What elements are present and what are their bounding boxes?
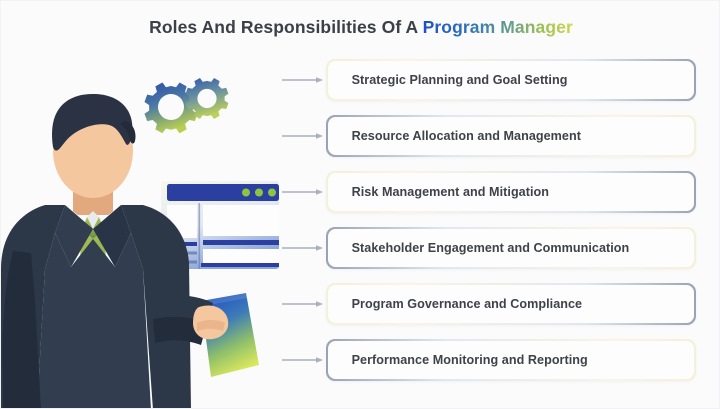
list-item-inner: Resource Allocation and Management — [328, 117, 695, 156]
list-item[interactable]: Risk Management and Mitigation — [326, 171, 696, 213]
gears-icon — [144, 78, 228, 133]
list-item-inner: Program Governance and Compliance — [328, 285, 695, 324]
list-item-label: Strategic Planning and Goal Setting — [352, 73, 568, 87]
connector-arrow-icon — [282, 283, 324, 325]
connector-arrow-icon — [282, 171, 324, 213]
hero-illustration — [1, 1, 301, 409]
list-item-inner: Stakeholder Engagement and Communication — [328, 229, 695, 268]
list-item-inner: Risk Management and Mitigation — [328, 173, 695, 212]
list-item[interactable]: Strategic Planning and Goal Setting — [326, 59, 696, 101]
connector-arrow-icon — [282, 227, 324, 269]
list-item[interactable]: Program Governance and Compliance — [326, 283, 696, 325]
infographic-root: Roles And Responsibilities Of A Program … — [0, 0, 720, 409]
list-item[interactable]: Stakeholder Engagement and Communication — [326, 227, 696, 269]
connector-arrow-icon — [282, 339, 324, 381]
connector-arrows — [282, 59, 324, 395]
connector-arrow-icon — [282, 59, 324, 101]
list-item-label: Program Governance and Compliance — [352, 297, 583, 311]
page-title-accent: Program Manager — [423, 17, 573, 37]
list-item-label: Stakeholder Engagement and Communication — [352, 241, 630, 255]
list-item[interactable]: Resource Allocation and Management — [326, 115, 696, 157]
list-item-label: Resource Allocation and Management — [352, 129, 581, 143]
list-item-inner: Strategic Planning and Goal Setting — [328, 61, 695, 100]
list-item-label: Performance Monitoring and Reporting — [352, 353, 588, 367]
list-item[interactable]: Performance Monitoring and Reporting — [326, 339, 696, 381]
list-item-inner: Performance Monitoring and Reporting — [328, 341, 695, 380]
responsibility-list: Strategic Planning and Goal Setting Reso… — [326, 59, 696, 395]
list-item-label: Risk Management and Mitigation — [352, 185, 549, 199]
connector-arrow-icon — [282, 115, 324, 157]
